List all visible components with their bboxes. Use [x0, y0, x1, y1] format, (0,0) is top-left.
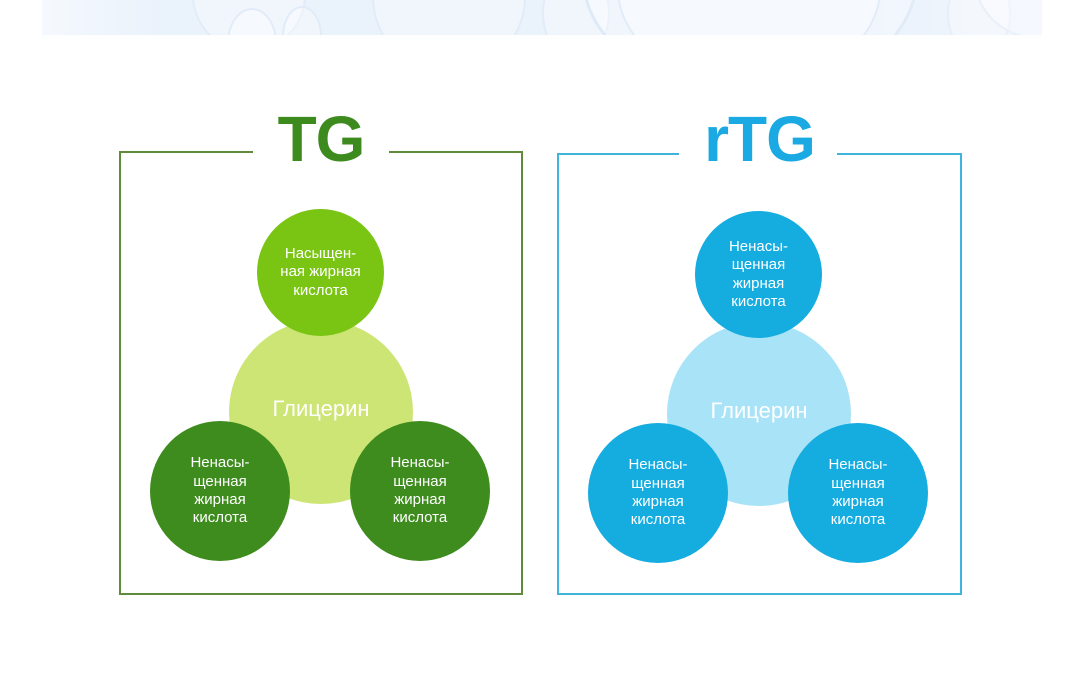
circle-tg-saturated-fatty-acid-label: Насыщен-ная жирнаякислота [280, 245, 360, 300]
circle-rtg-unsaturated-fatty-acid-right: Ненасы-щеннаяжирнаякислота [788, 423, 928, 563]
circle-rtg-unsaturated-fatty-acid-left: Ненасы-щеннаяжирнаякислота [588, 423, 728, 563]
circle-tg-glycerin-label: Глицерин [272, 396, 369, 422]
circle-rtg-unsaturated-fatty-acid-top: Ненасы-щеннаяжирнаякислота [695, 211, 822, 338]
circle-tg-unsaturated-fatty-acid-left: Ненасы-щеннаяжирнаякислота [150, 421, 290, 561]
banner-underline [42, 35, 1042, 42]
circle-rtg-unsaturated-fatty-acid-top-label: Ненасы-щеннаяжирнаякислота [729, 238, 788, 311]
panel-rtg: rTG Глицерин Ненасы-щеннаяжирнаякислота … [557, 153, 962, 595]
circle-tg-saturated-fatty-acid: Насыщен-ная жирнаякислота [257, 209, 384, 336]
banner-sheen [42, 0, 1042, 35]
circle-tg-unsaturated-fatty-acid-left-label: Ненасы-щеннаяжирнаякислота [190, 454, 249, 527]
circle-tg-unsaturated-fatty-acid-right-label: Ненасы-щеннаяжирнаякислота [390, 454, 449, 527]
top-banner [42, 0, 1042, 35]
panel-tg: TG Глицерин Насыщен-ная жирнаякислота Не… [119, 151, 523, 595]
circle-rtg-unsaturated-fatty-acid-right-label: Ненасы-щеннаяжирнаякислота [828, 456, 887, 529]
circle-rtg-unsaturated-fatty-acid-left-label: Ненасы-щеннаяжирнаякислота [628, 456, 687, 529]
circle-rtg-glycerin-label: Глицерин [710, 398, 807, 424]
circle-tg-unsaturated-fatty-acid-right: Ненасы-щеннаяжирнаякислота [350, 421, 490, 561]
panel-tg-circle-cluster: Глицерин Насыщен-ная жирнаякислота Ненас… [119, 151, 523, 595]
panel-rtg-circle-cluster: Глицерин Ненасы-щеннаяжирнаякислота Нена… [557, 153, 962, 595]
